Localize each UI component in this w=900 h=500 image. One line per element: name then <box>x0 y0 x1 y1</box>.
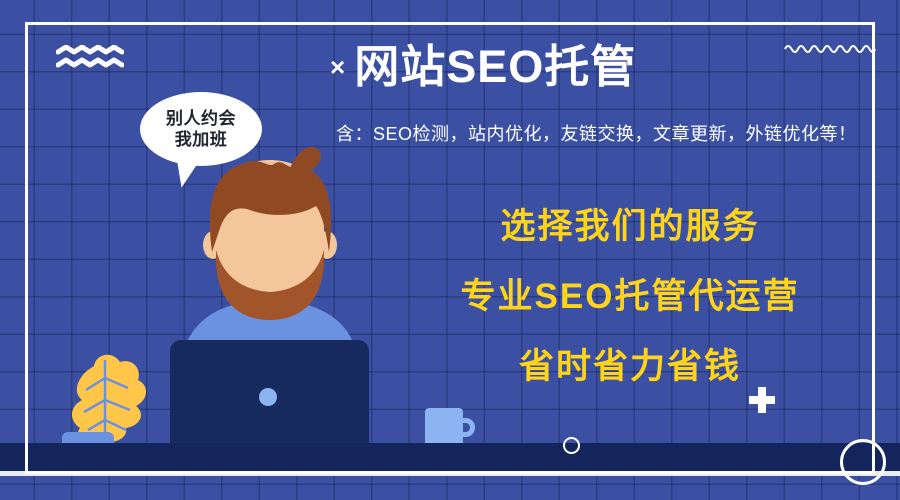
desk-surface <box>0 443 900 471</box>
wave-left-icon <box>56 45 124 71</box>
plus-mark-icon <box>749 387 775 413</box>
slogan-line-3: 省时省力省钱 <box>440 338 820 389</box>
speech-bubble-line-2: 我加班 <box>175 129 228 150</box>
small-circle-icon <box>563 437 580 454</box>
speech-bubble-line-1: 别人约会 <box>166 108 236 129</box>
page-title: ×网站SEO托管 <box>330 42 890 92</box>
bullet-x-icon: × <box>330 52 346 82</box>
page-title-text: 网站SEO托管 <box>354 41 636 92</box>
coffee-mug-handle <box>457 418 475 437</box>
hair-tuft <box>290 147 321 172</box>
mouth-shape <box>242 271 298 289</box>
slogan-line-2: 专业SEO托管代运营 <box>440 268 820 319</box>
laptop-logo-icon <box>259 388 277 406</box>
corner-circle-icon <box>840 439 886 485</box>
subtitle: 含：SEO检测，站内优化，友链交换，文章更新，外链优化等！ <box>336 120 896 146</box>
desk-edge-highlight <box>0 471 900 476</box>
plant-leaf <box>72 355 146 443</box>
seo-promo-banner: 别人约会 我加班 ×网站SEO托管 含：SEO检测，站内优化，友链交换，文章更新… <box>0 0 900 500</box>
speech-bubble: 别人约会 我加班 <box>140 92 262 166</box>
slogan-line-1: 选择我们的服务 <box>440 198 820 249</box>
